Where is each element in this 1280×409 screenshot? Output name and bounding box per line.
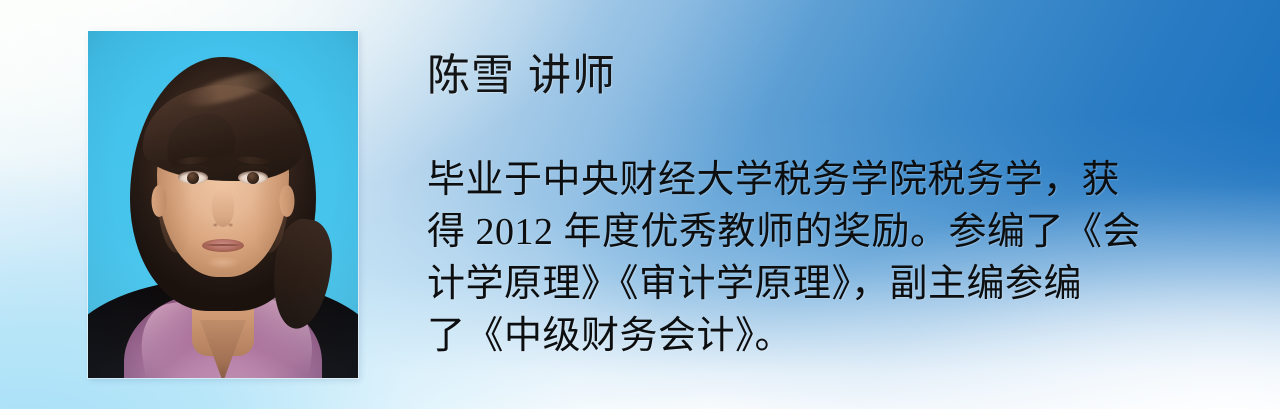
- instructor-heading: 陈雪 讲师: [427, 53, 616, 100]
- bio-line: 计学原理》《审计学原理》，副主编参编: [427, 258, 1257, 310]
- portrait-vignette: [88, 31, 358, 378]
- bio-line: 得 2012 年度优秀教师的奖励。参编了《会: [427, 206, 1257, 258]
- instructor-profile-card: 陈雪 讲师 毕业于中央财经大学税务学院税务学，获 得 2012 年度优秀教师的奖…: [0, 0, 1280, 409]
- portrait-image: [88, 31, 358, 378]
- bio-line: 了《中级财务会计》。: [427, 310, 1257, 362]
- instructor-portrait: [88, 31, 358, 378]
- bio-line: 毕业于中央财经大学税务学院税务学，获: [427, 154, 1257, 206]
- instructor-bio: 毕业于中央财经大学税务学院税务学，获 得 2012 年度优秀教师的奖励。参编了《…: [427, 154, 1257, 362]
